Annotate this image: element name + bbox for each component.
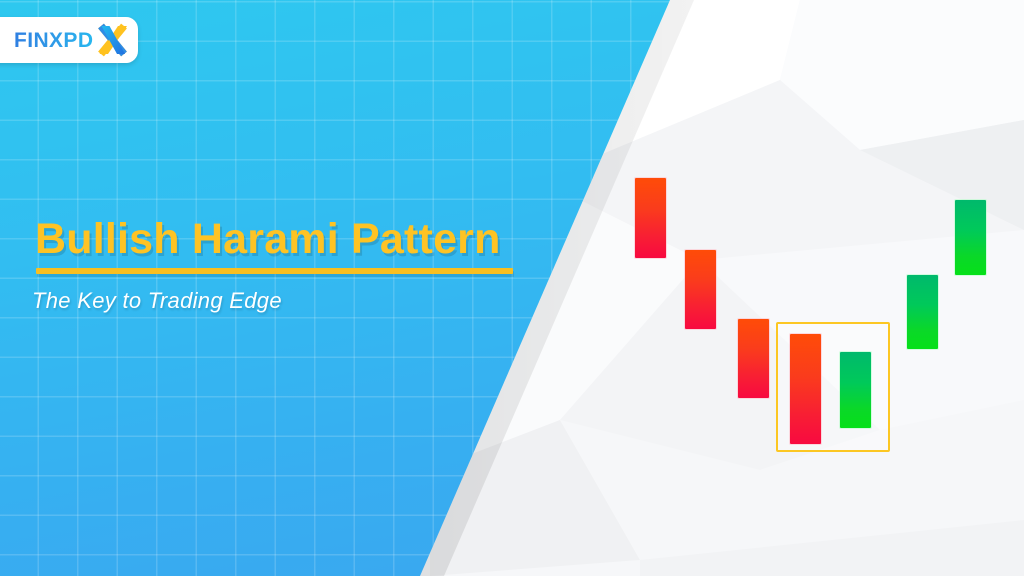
candlestick-3-down <box>738 319 769 398</box>
candlestick-4-down <box>790 334 821 444</box>
candlestick-1-down <box>635 178 666 258</box>
infographic-banner: FINXPD Bullish Harami Pattern The Key to… <box>0 0 1024 576</box>
candlestick-5-up <box>840 352 871 428</box>
candlestick-chart <box>0 0 1024 576</box>
candlestick-6-up <box>907 275 938 349</box>
candlestick-7-up <box>955 200 986 275</box>
candlestick-2-down <box>685 250 716 329</box>
